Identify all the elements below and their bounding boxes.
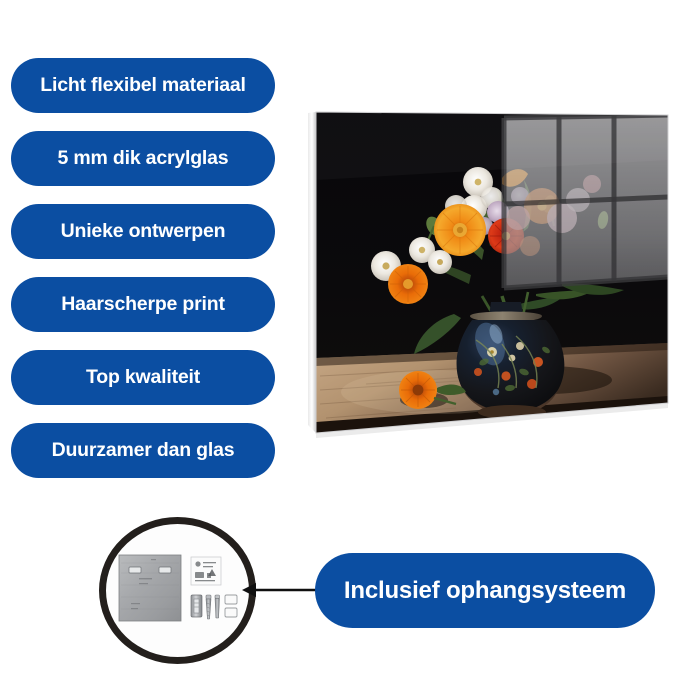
- product-panel[interactable]: [306, 100, 676, 445]
- hanging-system-magnifier: [99, 517, 256, 664]
- badge-top-quality[interactable]: Top kwaliteit: [11, 350, 275, 405]
- acrylic-print-illustration: [306, 100, 676, 445]
- spacer-pads: [225, 595, 237, 617]
- badge-sharp-print[interactable]: Haarscherpe print: [11, 277, 275, 332]
- instruction-card: [191, 557, 221, 585]
- badge-5mm-thick-acrylic[interactable]: 5 mm dik acrylglas: [11, 131, 275, 186]
- screw: [206, 595, 211, 619]
- badge-label: Top kwaliteit: [86, 368, 200, 388]
- badge-unique-designs[interactable]: Unieke ontwerpen: [11, 204, 275, 259]
- badge-hanging-system-included[interactable]: Inclusief ophangsysteem: [315, 553, 655, 628]
- badge-more-durable-than-glass[interactable]: Duurzamer dan glas: [11, 423, 275, 478]
- badge-label: Haarscherpe print: [61, 295, 225, 315]
- badge-label: Duurzamer dan glas: [52, 441, 235, 461]
- feature-badge-list: Licht flexibel materiaal 5 mm dik acrylg…: [11, 58, 275, 496]
- anchor-pin: [215, 595, 220, 618]
- badge-label: Licht flexibel materiaal: [40, 76, 245, 96]
- wall-plug: [191, 595, 202, 617]
- badge-label: Unieke ontwerpen: [61, 222, 226, 242]
- badge-light-flexible-material[interactable]: Licht flexibel materiaal: [11, 58, 275, 113]
- hanging-hardware-illustration: [117, 547, 239, 633]
- mounting-plate: [119, 555, 181, 621]
- badge-label: 5 mm dik acrylglas: [58, 149, 229, 169]
- badge-label: Inclusief ophangsysteem: [344, 579, 626, 603]
